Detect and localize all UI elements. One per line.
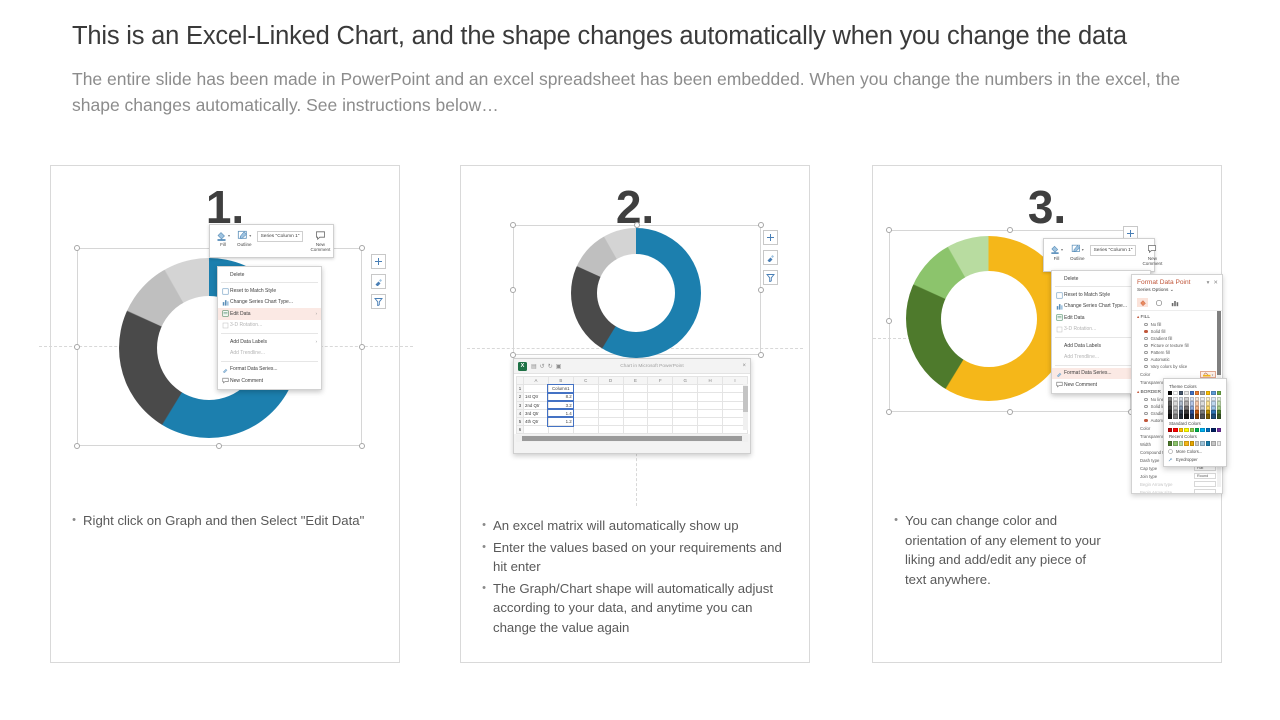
radio-icon[interactable] [1144,330,1148,334]
cell-empty[interactable] [573,417,598,425]
close-icon[interactable]: × [742,363,746,369]
option-gradient-fill[interactable]: Gradient fill [1132,335,1222,342]
color-swatch[interactable] [1179,414,1183,418]
menu-separator [221,361,318,362]
cell-empty[interactable] [598,393,623,401]
cell-value[interactable]: 8.2 [548,393,573,401]
cell-empty[interactable] [598,385,623,393]
cell-empty[interactable] [573,401,598,409]
column-header-H[interactable]: H [698,377,723,385]
color-swatch[interactable] [1217,414,1221,418]
fill-options-group[interactable]: No fillSolid fillGradient fillPicture or… [1132,321,1222,370]
list-item: • You can change color and orientation o… [887,511,1101,589]
menu-item-edit-data[interactable]: Edit Data› [218,308,321,319]
color-swatch[interactable] [1179,428,1183,432]
menu-item-format-data-series[interactable]: Format Data Series... [218,364,321,375]
redo-icon[interactable]: ↻ [548,363,553,370]
border-value[interactable]: Round [1194,473,1216,479]
cell-empty[interactable] [673,401,698,409]
format-pane-tabs[interactable] [1132,296,1222,311]
step-3-bullets: • You can change color and orientation o… [887,511,1101,591]
format-pane-header: Format Data Point ▾ ✕ [1132,275,1222,288]
mini-toolbar-1[interactable]: ▾ Fill ▾ Outline Series "Column 1" [209,224,334,258]
resize-handle-sw[interactable] [886,409,892,415]
cell-value[interactable]: 1.4 [548,409,573,417]
border-control[interactable] [1194,481,1216,487]
row-label: Color [1140,426,1150,431]
tab-effects[interactable] [1153,298,1164,307]
cell-value[interactable]: Column1 [548,385,573,393]
color-swatch[interactable] [1184,428,1188,432]
cell-label[interactable]: 4th Qtr [524,417,549,425]
resize-handle-nw[interactable] [510,222,516,228]
row-label: Join type [1140,474,1157,479]
series-options-dropdown[interactable]: Series Options ⌄ [1132,288,1222,296]
color-swatch[interactable] [1168,428,1172,432]
chart-elements-button[interactable] [371,254,386,269]
radio-icon[interactable] [1144,412,1148,416]
eyedropper-label: Eyedropper [1176,457,1198,462]
cell-empty[interactable] [673,409,698,417]
excel-horizontal-scrollbar[interactable] [516,435,748,442]
excel-vertical-scrollbar[interactable] [743,384,748,430]
outline-tool[interactable]: ▾ Outline [235,228,254,248]
series-selector[interactable]: Series "Column 1" [257,231,304,242]
fill-color-row[interactable]: Color ▾ [1132,370,1222,378]
menu-item-label: Delete [230,272,317,278]
donut-hole [941,271,1037,367]
border-section-label: BORDER [1140,390,1161,395]
cell-label[interactable]: 2nd Qtr [524,401,549,409]
radio-icon[interactable] [1144,405,1148,409]
option-label: No fill [1151,322,1162,327]
color-swatch[interactable] [1217,441,1221,445]
cell-empty[interactable] [698,401,723,409]
option-label: No line [1151,397,1164,402]
color-swatch[interactable] [1173,441,1177,445]
eyedropper-icon [1168,457,1173,462]
cell-empty[interactable] [573,385,598,393]
fill-section-header[interactable]: ▴ FILL [1132,311,1222,321]
cell-empty[interactable] [648,426,673,434]
chart-side-buttons-2[interactable] [763,230,778,285]
color-picker-popup[interactable]: Theme Colors Standard Colors Recent Colo… [1163,378,1227,467]
bullet-dot: • [475,579,493,599]
column-header-C[interactable]: C [573,377,598,385]
donut-chart-2[interactable] [571,228,701,358]
table-row[interactable]: 21st Qtr8.2 [517,393,748,401]
step-1-bullets: • Right click on Graph and then Select "… [65,511,387,533]
cell-empty[interactable] [698,409,723,417]
cell-empty[interactable] [623,393,648,401]
page-subtitle: The entire slide has been made in PowerP… [72,66,1202,118]
recent-colors-row[interactable] [1168,441,1222,445]
chart-filters-button[interactable] [763,270,778,285]
option-pattern-fill[interactable]: Pattern fill [1132,349,1222,356]
chart-type-icon [1055,303,1064,310]
color-swatch[interactable] [1206,428,1210,432]
chart-type-icon [222,299,229,306]
color-swatch[interactable] [1200,391,1204,395]
color-swatch[interactable] [1200,441,1204,445]
chart-styles-button[interactable] [763,250,778,265]
scrollbar-thumb[interactable] [522,436,742,441]
new-comment-tool[interactable]: New Comment [308,228,332,254]
menu-item-label: Add Data Labels [230,339,309,345]
radio-icon[interactable] [1144,344,1148,348]
menu-item-new-comment[interactable]: New Comment [218,375,321,386]
menu-item-label: Format Data Series... [230,366,317,372]
radio-icon[interactable] [1144,323,1148,327]
table-row[interactable]: 54th Qtr1.2 [517,417,748,425]
bullet-dot: • [475,538,493,558]
resize-handle-nw[interactable] [74,245,80,251]
more-colors-label: More Colors... [1176,449,1202,454]
menu-item-add-data-labels[interactable]: Add Data Labels› [218,336,321,347]
color-swatch[interactable] [1190,414,1194,418]
color-swatch[interactable] [1206,414,1210,418]
row-number[interactable]: 5 [517,417,524,425]
fill-section-label: FILL [1140,315,1150,320]
border-control[interactable] [1194,489,1216,494]
cell-empty[interactable] [573,426,598,434]
cell-empty[interactable] [698,393,723,401]
color-swatch[interactable] [1195,428,1199,432]
color-swatch[interactable] [1184,391,1188,395]
bullet-text: Right click on Graph and then Select "Ed… [83,511,387,531]
quick-access-toolbar[interactable]: ▤ ↺ ↻ ▣ [531,363,561,370]
color-swatch[interactable] [1206,391,1210,395]
comment-icon [315,229,326,241]
column-header-D[interactable]: D [598,377,623,385]
fill-tool[interactable]: ▾ Fill [1048,242,1065,262]
comment-icon [1147,243,1157,255]
menu-item-label: Add Trendline... [230,350,317,356]
cell-empty[interactable] [648,401,673,409]
rotation-icon [1055,326,1064,333]
bullet-text: The Graph/Chart shape will automatically… [493,579,797,638]
cell-value[interactable] [548,426,573,434]
color-swatch[interactable] [1200,428,1204,432]
radio-icon[interactable] [1144,358,1148,362]
list-item: • Enter the values based on your require… [475,538,797,577]
column-header-A[interactable]: A [524,377,549,385]
color-swatch[interactable] [1190,428,1194,432]
tab-series-options[interactable] [1169,298,1180,307]
resize-handle-w[interactable] [886,318,892,324]
color-swatch[interactable] [1179,441,1183,445]
cell-empty[interactable] [623,409,648,417]
cell-empty[interactable] [673,426,698,434]
column-header-G[interactable]: G [673,377,698,385]
cell-empty[interactable] [698,426,723,434]
theme-base-row[interactable] [1168,391,1222,395]
excel-datasheet-window[interactable]: X ▤ ↺ ↻ ▣ Chart in Microsoft PowerPoint … [513,358,751,454]
chart-styles-button[interactable] [371,274,386,289]
row-number[interactable]: 4 [517,409,524,417]
menu-item-label: Edit Data [1064,315,1138,321]
standard-colors-row[interactable] [1168,428,1222,432]
color-swatch[interactable] [1168,441,1172,445]
select-all-corner[interactable] [517,377,524,385]
cell-empty[interactable] [623,401,648,409]
option-label: Vary colors by slice [1151,364,1188,369]
radio-icon[interactable] [1144,351,1148,355]
edit-data-icon [222,310,229,317]
cell-empty[interactable] [598,426,623,434]
option-picture-or-texture-fill[interactable]: Picture or texture fill [1132,342,1222,349]
format-icon [1055,370,1064,377]
column-header-F[interactable]: F [648,377,673,385]
edit-data-icon [221,310,230,317]
context-menu-1[interactable]: DeleteReset to Match StyleChange Series … [217,266,322,390]
cell-empty[interactable] [673,385,698,393]
cell-empty[interactable] [698,385,723,393]
cell-label[interactable] [524,385,549,393]
resize-handle-n[interactable] [1007,227,1013,233]
row-label: Begin Arrow size [1140,490,1172,495]
menu-separator [221,333,318,334]
menu-item-label: 3-D Rotation... [230,322,317,328]
row-begin-arrow-type[interactable]: Begin Arrow type [1132,480,1222,488]
cell-empty[interactable] [648,385,673,393]
row-number[interactable]: 1 [517,385,524,393]
chart-filters-button[interactable] [371,294,386,309]
list-item: • The Graph/Chart shape will automatical… [475,579,797,638]
resize-handle-se[interactable] [359,443,365,449]
option-label: Gradient fill [1151,336,1173,341]
cell-empty[interactable] [698,417,723,425]
table-row[interactable]: 6 [517,426,748,434]
color-swatch[interactable] [1195,441,1199,445]
cell-empty[interactable] [648,409,673,417]
resize-handle-se[interactable] [758,352,764,358]
menu-item-reset-to-match-style[interactable]: Reset to Match Style [218,285,321,296]
table-row[interactable]: 43rd Qtr1.4 [517,409,748,417]
list-item: • An excel matrix will automatically sho… [475,516,797,536]
resize-handle-e[interactable] [758,287,764,293]
pane-options-icon[interactable]: ▾ [1207,280,1210,286]
open-in-excel-icon[interactable]: ▣ [556,363,562,370]
cell-empty[interactable] [598,409,623,417]
color-swatch[interactable] [1206,441,1210,445]
fill-tool[interactable]: ▾ Fill [214,228,232,248]
color-swatch[interactable] [1195,391,1199,395]
excel-table[interactable]: ABCDEFGHI1Column121st Qtr8.232nd Qtr3.24… [516,376,748,434]
radio-icon[interactable] [1144,398,1148,402]
row-join-type[interactable]: Join typeRound [1132,472,1222,480]
more-colors-button[interactable]: More Colors... [1168,449,1222,454]
column-header-E[interactable]: E [623,377,648,385]
cell-value[interactable]: 1.2 [548,417,573,425]
rotation-icon [222,322,229,329]
color-swatch[interactable] [1211,428,1215,432]
table-row[interactable]: 32nd Qtr3.2 [517,401,748,409]
row-number[interactable]: 6 [517,426,524,434]
theme-colors-grid[interactable] [1168,391,1222,419]
cell-empty[interactable] [623,426,648,434]
mini-toolbar-3[interactable]: ▾ Fill ▾ Outline Series "Column 1" [1043,238,1155,272]
option-label: Pattern fill [1151,350,1170,355]
color-swatch[interactable] [1173,391,1177,395]
new-comment-tool[interactable]: New Comment [1140,242,1164,268]
cell-empty[interactable] [648,417,673,425]
page-title: This is an Excel-Linked Chart, and the s… [72,22,1212,51]
chart-side-buttons-1[interactable] [371,254,386,309]
chart-type-icon [1056,303,1063,310]
theme-shade-row[interactable] [1168,414,1222,418]
format-icon [1056,370,1063,377]
row-begin-arrow-size[interactable]: Begin Arrow size [1132,488,1222,494]
option-automatic[interactable]: Automatic [1132,356,1222,363]
option-vary-colors-by-slice[interactable]: Vary colors by slice [1132,363,1222,370]
color-swatch[interactable] [1211,441,1215,445]
row-label: Cap type [1140,466,1157,471]
radio-icon[interactable] [1144,365,1148,369]
new-comment-label: New Comment [310,242,330,253]
resize-handle-w[interactable] [74,344,80,350]
bullet-dot: • [887,511,905,531]
chart-stage-2: X ▤ ↺ ↻ ▣ Chart in Microsoft PowerPoint … [461,226,809,506]
cell-empty[interactable] [573,409,598,417]
resize-handle-w[interactable] [510,287,516,293]
cell-label[interactable]: 3rd Qtr [524,409,549,417]
cell-empty[interactable] [623,385,648,393]
series-selector[interactable]: Series "Column 1" [1090,245,1137,256]
menu-item-label: Change Series Chart Type... [230,299,317,305]
chart-stage-1: ▾ Fill ▾ Outline Series "Column 1" [51,226,399,506]
fill-icon: ▾ [216,229,230,241]
step-panel-2: 2. X [460,165,810,663]
format-icon [221,366,230,373]
menu-item-label: Reset to Match Style [230,288,317,294]
reset-icon [1056,292,1063,299]
format-pane-title: Format Data Point [1137,279,1203,286]
resize-handle-sw[interactable] [74,443,80,449]
row-number[interactable]: 3 [517,401,524,409]
comment-icon [222,377,229,384]
color-swatch[interactable] [1195,414,1199,418]
cell-empty[interactable] [648,393,673,401]
cell-empty[interactable] [623,417,648,425]
donut-hole [597,254,675,332]
rotation-icon [1056,326,1063,333]
color-swatch[interactable] [1173,428,1177,432]
color-swatch[interactable] [1173,414,1177,418]
option-no-fill[interactable]: No fill [1132,321,1222,328]
row-label: Begin Arrow type [1140,482,1172,487]
resize-handle-nw[interactable] [886,227,892,233]
cell-label[interactable] [524,426,549,434]
row-number[interactable]: 2 [517,393,524,401]
close-icon[interactable]: ✕ [1213,280,1218,286]
column-header-B[interactable]: B [548,377,573,385]
color-swatch[interactable] [1168,414,1172,418]
color-swatch[interactable] [1184,441,1188,445]
menu-separator [221,282,318,283]
undo-icon[interactable]: ↺ [540,363,545,370]
resize-handle-s[interactable] [216,443,222,449]
menu-item-label: Add Data Labels [1064,343,1138,349]
color-swatch[interactable] [1217,391,1221,395]
resize-handle-e[interactable] [359,344,365,350]
menu-item-change-series-chart-type[interactable]: Change Series Chart Type... [218,297,321,308]
svg-text:▾: ▾ [1212,372,1214,376]
chart-elements-button[interactable] [763,230,778,245]
rotation-icon [221,322,230,329]
color-swatch[interactable] [1190,391,1194,395]
recent-colors-label: Recent Colors [1169,434,1222,439]
tab-fill-line[interactable] [1137,298,1148,307]
list-item: • Right click on Graph and then Select "… [65,511,387,531]
resize-handle-ne[interactable] [359,245,365,251]
radio-icon[interactable] [1144,419,1148,423]
cell-empty[interactable] [673,393,698,401]
option-label: Picture or texture fill [1151,343,1189,348]
outline-icon: ▾ [237,229,251,241]
color-swatch[interactable] [1168,391,1172,395]
step-panel-1: 1. [50,165,400,663]
fill-color-swatch-button[interactable]: ▾ [1200,371,1216,378]
table-row[interactable]: 1Column1 [517,385,748,393]
outline-label: Outline [1070,256,1085,261]
color-swatch[interactable] [1179,391,1183,395]
resize-handle-ne[interactable] [758,222,764,228]
excel-logo-icon: X [518,362,527,371]
menu-item-label: Edit Data [230,311,309,317]
submenu-chevron-icon: › [315,311,317,316]
color-swatch[interactable] [1190,441,1194,445]
standard-colors-label: Standard Colors [1169,421,1222,426]
color-swatch[interactable] [1211,391,1215,395]
step-panel-3: 3. ▾ [872,165,1222,663]
reset-icon [221,288,230,295]
cell-value[interactable]: 3.2 [548,401,573,409]
step-2-bullets: • An excel matrix will automatically sho… [475,516,797,640]
color-swatch[interactable] [1200,414,1204,418]
comment-icon [1056,381,1063,388]
radio-icon[interactable] [1144,337,1148,341]
outline-tool[interactable]: ▾ Outline [1068,242,1087,262]
cell-empty[interactable] [673,417,698,425]
scrollbar-thumb[interactable] [743,386,748,412]
submenu-chevron-icon: › [315,339,317,344]
cell-empty[interactable] [598,401,623,409]
bullet-text: An excel matrix will automatically show … [493,516,797,536]
option-label: Solid fill [1151,329,1166,334]
color-swatch[interactable] [1211,414,1215,418]
save-icon[interactable]: ▤ [531,363,537,370]
chart-type-icon [221,299,230,306]
scrollbar-thumb[interactable] [1217,311,1221,375]
excel-title-bar: X ▤ ↺ ↻ ▣ Chart in Microsoft PowerPoint … [514,359,750,374]
reset-icon [1055,292,1064,299]
cell-empty[interactable] [598,417,623,425]
excel-grid[interactable]: ABCDEFGHI1Column121st Qtr8.232nd Qtr3.24… [514,374,750,434]
cell-empty[interactable] [573,393,598,401]
theme-colors-label: Theme Colors [1169,384,1222,389]
menu-item-add-trendline: Add Trendline... [218,347,321,358]
color-swatch[interactable] [1184,414,1188,418]
cell-label[interactable]: 1st Qtr [524,393,549,401]
bullet-dot: • [65,511,83,531]
eyedropper-button[interactable]: Eyedropper [1168,457,1222,462]
resize-handle-s[interactable] [1007,409,1013,415]
row-label: Width [1140,442,1151,447]
color-swatch[interactable] [1217,428,1221,432]
option-solid-fill[interactable]: Solid fill [1132,328,1222,335]
menu-item-delete[interactable]: Delete [218,269,321,280]
